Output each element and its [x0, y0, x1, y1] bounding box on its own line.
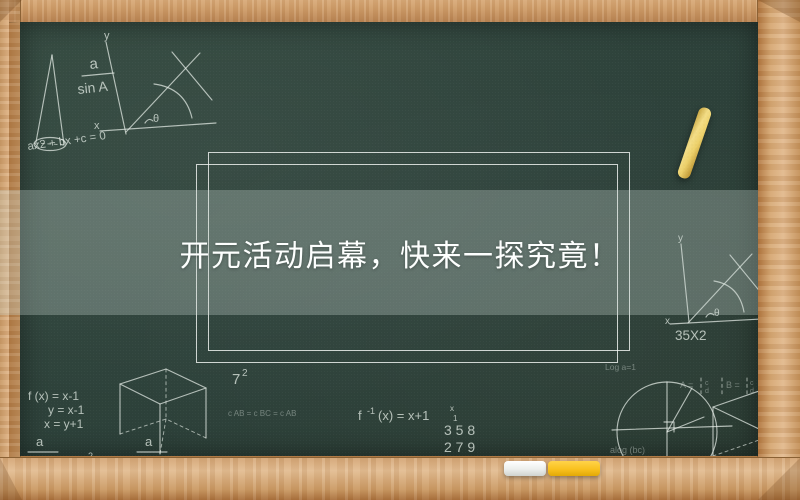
headline-text: 开元活动启幕，快来一探究竟！: [180, 231, 621, 275]
inverse-function-expr: f -1 (x) = x+1: [358, 406, 429, 423]
function-equations: f (x) = x-1 y = x-1 x = y+1: [28, 389, 85, 431]
headline-container: 开元活动启幕，快来一探究竟！: [0, 190, 800, 315]
svg-text:d: d: [705, 388, 709, 395]
svg-text:7: 7: [232, 371, 240, 388]
svg-text:x = y+1: x = y+1: [44, 417, 84, 431]
white-chalk-icon: [504, 461, 546, 476]
svg-text:f: f: [358, 408, 362, 423]
faint-congruence-expr: c AB = c BC = c AB: [228, 409, 296, 418]
svg-text:1: 1: [453, 414, 458, 423]
seven-squared: 7 2: [232, 368, 248, 388]
quadratic-equation: ax2 + bx +c = 0: [27, 130, 107, 153]
svg-text:d: d: [750, 388, 754, 395]
log-product-expr: alog (bc): [610, 445, 645, 455]
frame-corner-bottom-right: [758, 458, 800, 500]
svg-text:x: x: [450, 404, 454, 413]
sine-rule-fraction-bottommid: a sin A: [135, 434, 167, 456]
svg-text:B =: B =: [726, 380, 740, 390]
svg-text:2 7 9: 2 7 9: [444, 439, 475, 455]
svg-text:-1: -1: [367, 406, 375, 416]
matrix-notation-faint: A = c d B = c d: [680, 378, 758, 395]
frame-bottom-ledge: [0, 457, 800, 500]
svg-text:c: c: [750, 380, 754, 387]
frame-top: [0, 0, 800, 23]
svg-text:(x) = x+1: (x) = x+1: [378, 408, 429, 423]
svg-text:θ: θ: [153, 113, 159, 125]
svg-text:y: y: [104, 30, 110, 42]
chalkboard-banner: a sin A y x θ ax2 + bx +c = 0: [0, 0, 800, 500]
sine-rule-fraction-topleft: a sin A: [77, 55, 114, 97]
chalk-stick-icon: [676, 106, 712, 180]
yellow-chalk-icon: [548, 461, 600, 476]
circle-radius-diagram: [612, 382, 732, 456]
b-squared: B 2: [78, 451, 93, 456]
svg-text:A =: A =: [680, 380, 693, 390]
svg-text:sin A: sin A: [77, 78, 110, 97]
svg-text:2: 2: [88, 451, 93, 456]
svg-text:y = x-1: y = x-1: [48, 403, 85, 417]
svg-text:2: 2: [242, 368, 248, 379]
mid-right-expressions: 35X2 3X2: [675, 328, 758, 343]
cone-diagram: [34, 55, 66, 151]
svg-text:f (x) = x-1: f (x) = x-1: [28, 389, 79, 403]
cube-diagram-2: [713, 390, 758, 456]
cube-diagram: [120, 369, 206, 454]
svg-text:a: a: [145, 434, 153, 449]
frame-corner-top-left: [0, 0, 22, 22]
frame-corner-top-right: [758, 0, 800, 22]
log-note: Log a=1: [605, 362, 636, 372]
angle-axes-diagram-topleft: y x θ: [94, 30, 216, 134]
svg-text:B: B: [78, 453, 87, 456]
svg-text:35X2: 35X2: [675, 328, 707, 343]
svg-text:3 5 8: 3 5 8: [444, 422, 475, 438]
svg-text:x: x: [94, 120, 100, 132]
svg-text:a: a: [36, 434, 44, 449]
sine-rule-fraction-bottomleft: a sin A: [26, 434, 58, 456]
svg-text:c: c: [705, 380, 709, 387]
vertical-addition-problem: x 1 3 5 8 2 7 9 6 3 7: [440, 404, 490, 456]
frame-corner-bottom-left: [0, 458, 22, 500]
svg-text:x: x: [665, 316, 670, 327]
svg-text:a: a: [89, 55, 100, 73]
